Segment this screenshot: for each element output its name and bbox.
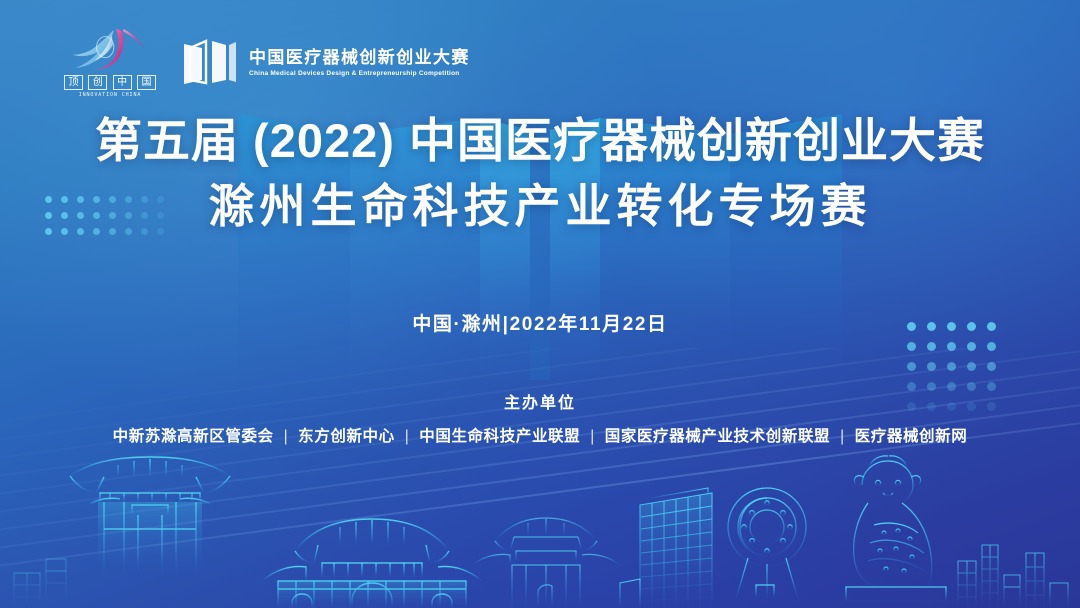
ring-sculpture — [728, 488, 806, 599]
host-item-2: 东方创新中心 — [298, 428, 395, 445]
merlion-statue — [846, 456, 946, 601]
city-skyline-illustration — [0, 433, 1080, 608]
pailou-gate — [70, 457, 230, 573]
bird-logo-char-3: 中 — [113, 75, 132, 90]
host-divider-2: | — [400, 428, 415, 445]
location-date-line: 中国·滁州|2022年11月22日 — [0, 309, 1080, 336]
competition-logo: 中国医疗器械创新创业大赛 China Medical Devices Desig… — [182, 38, 470, 86]
city-buildings-right — [958, 545, 1068, 608]
decor-light-streaks — [0, 348, 1080, 608]
poster-title-primary: 第五届 (2022) 中国医疗器械创新创业大赛 — [0, 112, 1080, 170]
host-section-label: 主办单位 — [0, 389, 1080, 413]
host-item-4: 国家医疗器械产业技术创新联盟 — [605, 428, 830, 445]
host-divider-1: | — [279, 428, 294, 445]
host-divider-4: | — [835, 428, 850, 445]
bird-logo-char-2: 创 — [88, 75, 107, 90]
event-poster: 顶 创 中 国 INNOVATION CHINA 中国医疗器械创新创业大赛 Ch… — [0, 0, 1080, 608]
competition-logo-en: China Medical Devices Design & Entrepren… — [249, 70, 470, 77]
poster-title-secondary: 滁州生命科技产业转化专场赛 — [0, 178, 1080, 234]
city-gate-tower — [262, 519, 482, 608]
bird-logo-cn-text: 顶 创 中 国 — [64, 75, 156, 90]
open-door-icon — [182, 38, 238, 86]
title-block: 第五届 (2022) 中国医疗器械创新创业大赛 滁州生命科技产业转化专场赛 — [0, 112, 1080, 234]
header-logos: 顶 创 中 国 INNOVATION CHINA 中国医疗器械创新创业大赛 Ch… — [64, 26, 470, 98]
city-buildings-left — [14, 559, 66, 608]
bird-logo-icon — [64, 26, 160, 72]
host-item-5: 医疗器械创新网 — [855, 428, 968, 445]
bird-logo-char-4: 国 — [137, 75, 156, 90]
chinese-pavilion — [472, 518, 620, 608]
bird-logo-en-text: INNOVATION CHINA — [64, 92, 156, 98]
host-divider-3: | — [585, 428, 600, 445]
modern-office-tower — [620, 488, 712, 608]
bird-logo: 顶 创 中 国 INNOVATION CHINA — [64, 26, 156, 98]
bird-logo-char-1: 顶 — [64, 75, 83, 90]
host-item-1: 中新苏滁高新区管委会 — [113, 428, 274, 445]
competition-logo-cn: 中国医疗器械创新创业大赛 — [249, 48, 470, 67]
host-organizations-list: 中新苏滁高新区管委会 | 东方创新中心 | 中国生命科技产业联盟 | 国家医疗器… — [0, 424, 1080, 446]
host-item-3: 中国生命科技产业联盟 — [419, 428, 580, 445]
